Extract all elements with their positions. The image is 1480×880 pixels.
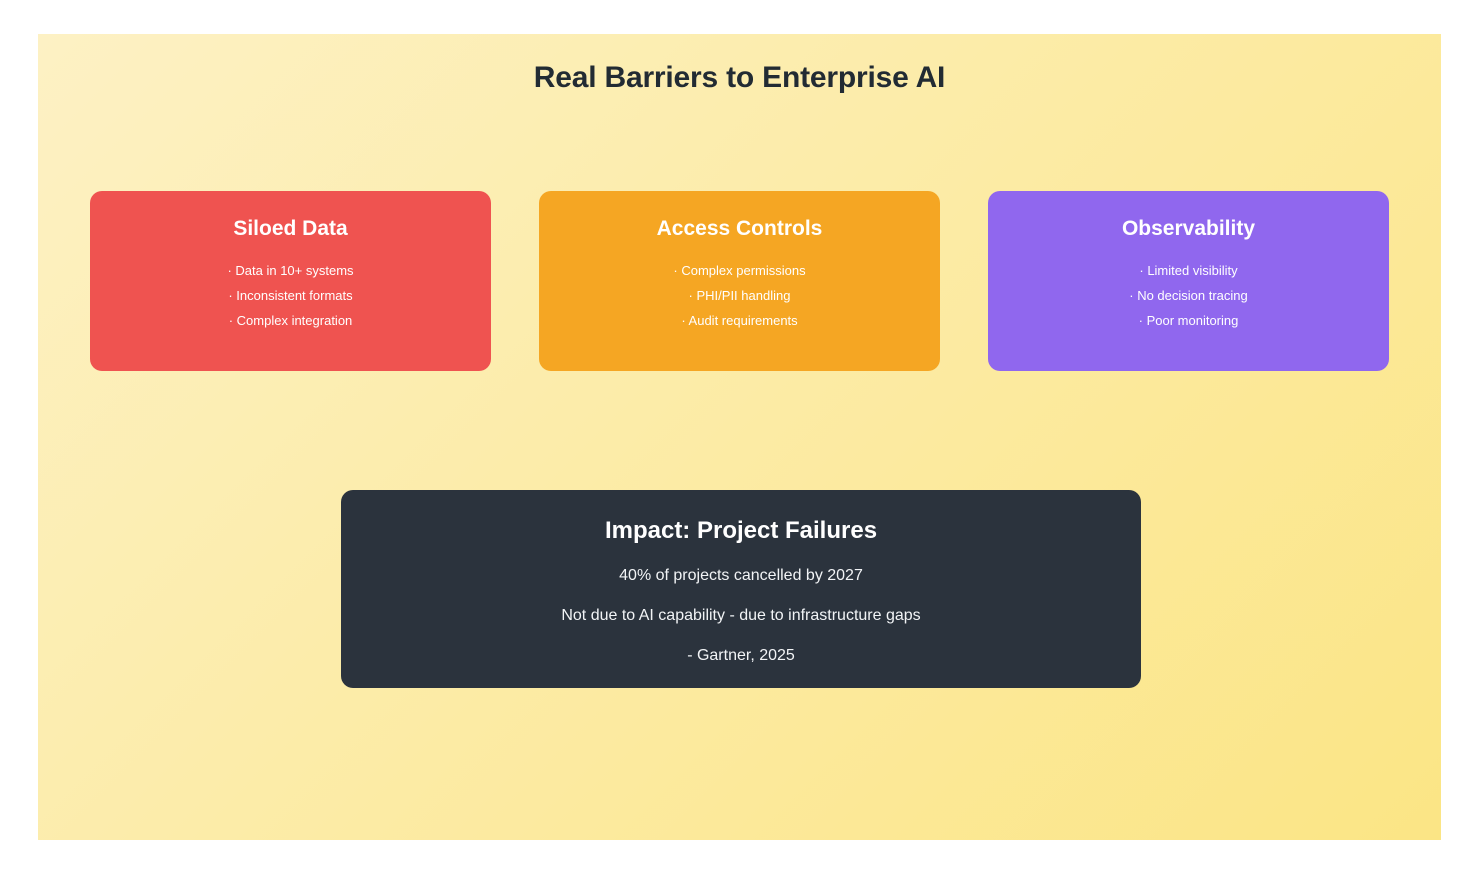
barrier-point: · Audit requirements [539, 308, 940, 333]
barrier-card-siloed-data[interactable]: Siloed Data · Data in 10+ systems · Inco… [90, 191, 491, 371]
impact-title: Impact: Project Failures [341, 516, 1141, 546]
barrier-point-list: · Complex permissions · PHI/PII handling… [539, 258, 940, 333]
barrier-point-list: · Data in 10+ systems · Inconsistent for… [90, 258, 491, 333]
impact-explanation: Not due to AI capability - due to infras… [341, 606, 1141, 626]
barrier-point: · No decision tracing [988, 283, 1389, 308]
impact-source-citation: - Gartner, 2025 [341, 646, 1141, 666]
barrier-point: · Limited visibility [988, 258, 1389, 283]
barrier-card-access-controls[interactable]: Access Controls · Complex permissions · … [539, 191, 940, 371]
barrier-card-observability[interactable]: Observability · Limited visibility · No … [988, 191, 1389, 371]
impact-summary-box: Impact: Project Failures 40% of projects… [341, 490, 1141, 688]
barrier-card-title: Observability [988, 216, 1389, 242]
slide-panel: Real Barriers to Enterprise AI Siloed Da… [38, 34, 1441, 840]
barrier-card-group: Siloed Data · Data in 10+ systems · Inco… [90, 191, 1389, 371]
page-title: Real Barriers to Enterprise AI [38, 61, 1441, 95]
barrier-point: · Complex integration [90, 308, 491, 333]
barrier-card-title: Access Controls [539, 216, 940, 242]
barrier-point-list: · Limited visibility · No decision traci… [988, 258, 1389, 333]
barrier-point: · Data in 10+ systems [90, 258, 491, 283]
barrier-card-title: Siloed Data [90, 216, 491, 242]
barrier-point: · PHI/PII handling [539, 283, 940, 308]
barrier-point: · Complex permissions [539, 258, 940, 283]
barrier-point: · Poor monitoring [988, 308, 1389, 333]
barrier-point: · Inconsistent formats [90, 283, 491, 308]
impact-statistic: 40% of projects cancelled by 2027 [341, 566, 1141, 586]
